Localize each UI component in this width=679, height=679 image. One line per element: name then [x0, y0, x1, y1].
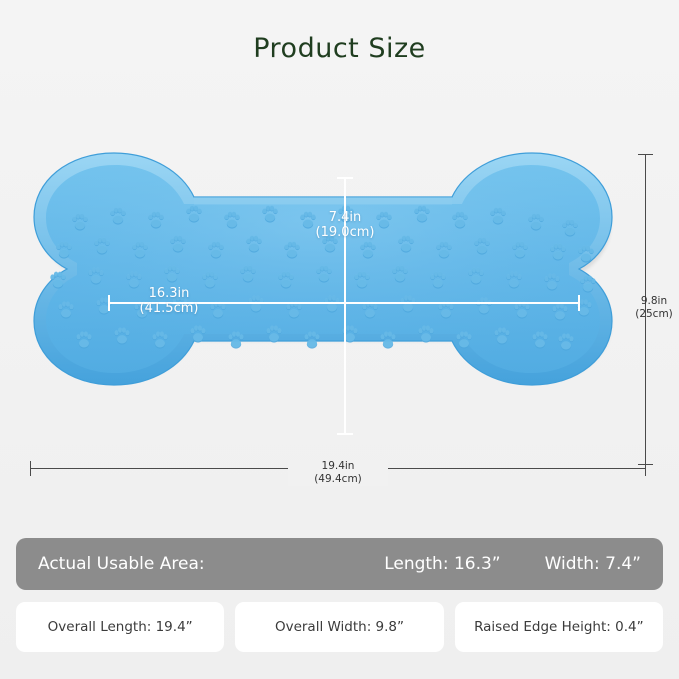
product-size-infographic: Product Size	[0, 0, 679, 679]
overall-length-cm: (49.4cm)	[314, 473, 362, 485]
usable-width-inches: 7.4in	[329, 210, 362, 225]
actual-usable-area-bar: Actual Usable Area: Length: 16.3” Width:…	[16, 538, 663, 590]
overall-length-label: 19.4in (49.4cm)	[288, 460, 388, 486]
overall-length-inches: 19.4in	[322, 460, 355, 472]
usable-area-length-value: Length: 16.3”	[384, 554, 500, 574]
overall-height-label: 9.8in (25cm)	[628, 295, 679, 321]
usable-width-cm: (19.0cm)	[316, 225, 375, 240]
usable-length-label: 16.3in (41.5cm)	[124, 286, 214, 316]
usable-width-label: 7.4in (19.0cm)	[297, 210, 393, 240]
overall-height-inches: 9.8in	[641, 295, 667, 307]
spec-card-row: Overall Length: 19.4” Overall Width: 9.8…	[16, 602, 663, 652]
usable-area-width-value: Width: 7.4”	[545, 554, 641, 574]
page-title: Product Size	[0, 33, 679, 64]
overall-height-cm: (25cm)	[635, 308, 673, 320]
spec-card-raised-edge-height: Raised Edge Height: 0.4”	[455, 602, 663, 652]
usable-width-cap-top	[337, 177, 353, 179]
overall-length-tick-left	[30, 461, 31, 476]
usable-length-cm: (41.5cm)	[140, 301, 199, 316]
usable-length-cap-right	[578, 295, 580, 311]
spec-card-overall-width: Overall Width: 9.8”	[235, 602, 443, 652]
overall-height-tick-top	[638, 154, 653, 155]
overall-length-tick-right	[645, 461, 646, 476]
usable-width-cap-bottom	[337, 433, 353, 435]
usable-length-inches: 16.3in	[149, 286, 190, 301]
usable-area-label: Actual Usable Area:	[38, 554, 205, 574]
product-illustration-area: 16.3in (41.5cm) 7.4in (19.0cm) 9.8in (25…	[0, 110, 679, 500]
spec-card-overall-length: Overall Length: 19.4”	[16, 602, 224, 652]
usable-length-cap-left	[108, 295, 110, 311]
